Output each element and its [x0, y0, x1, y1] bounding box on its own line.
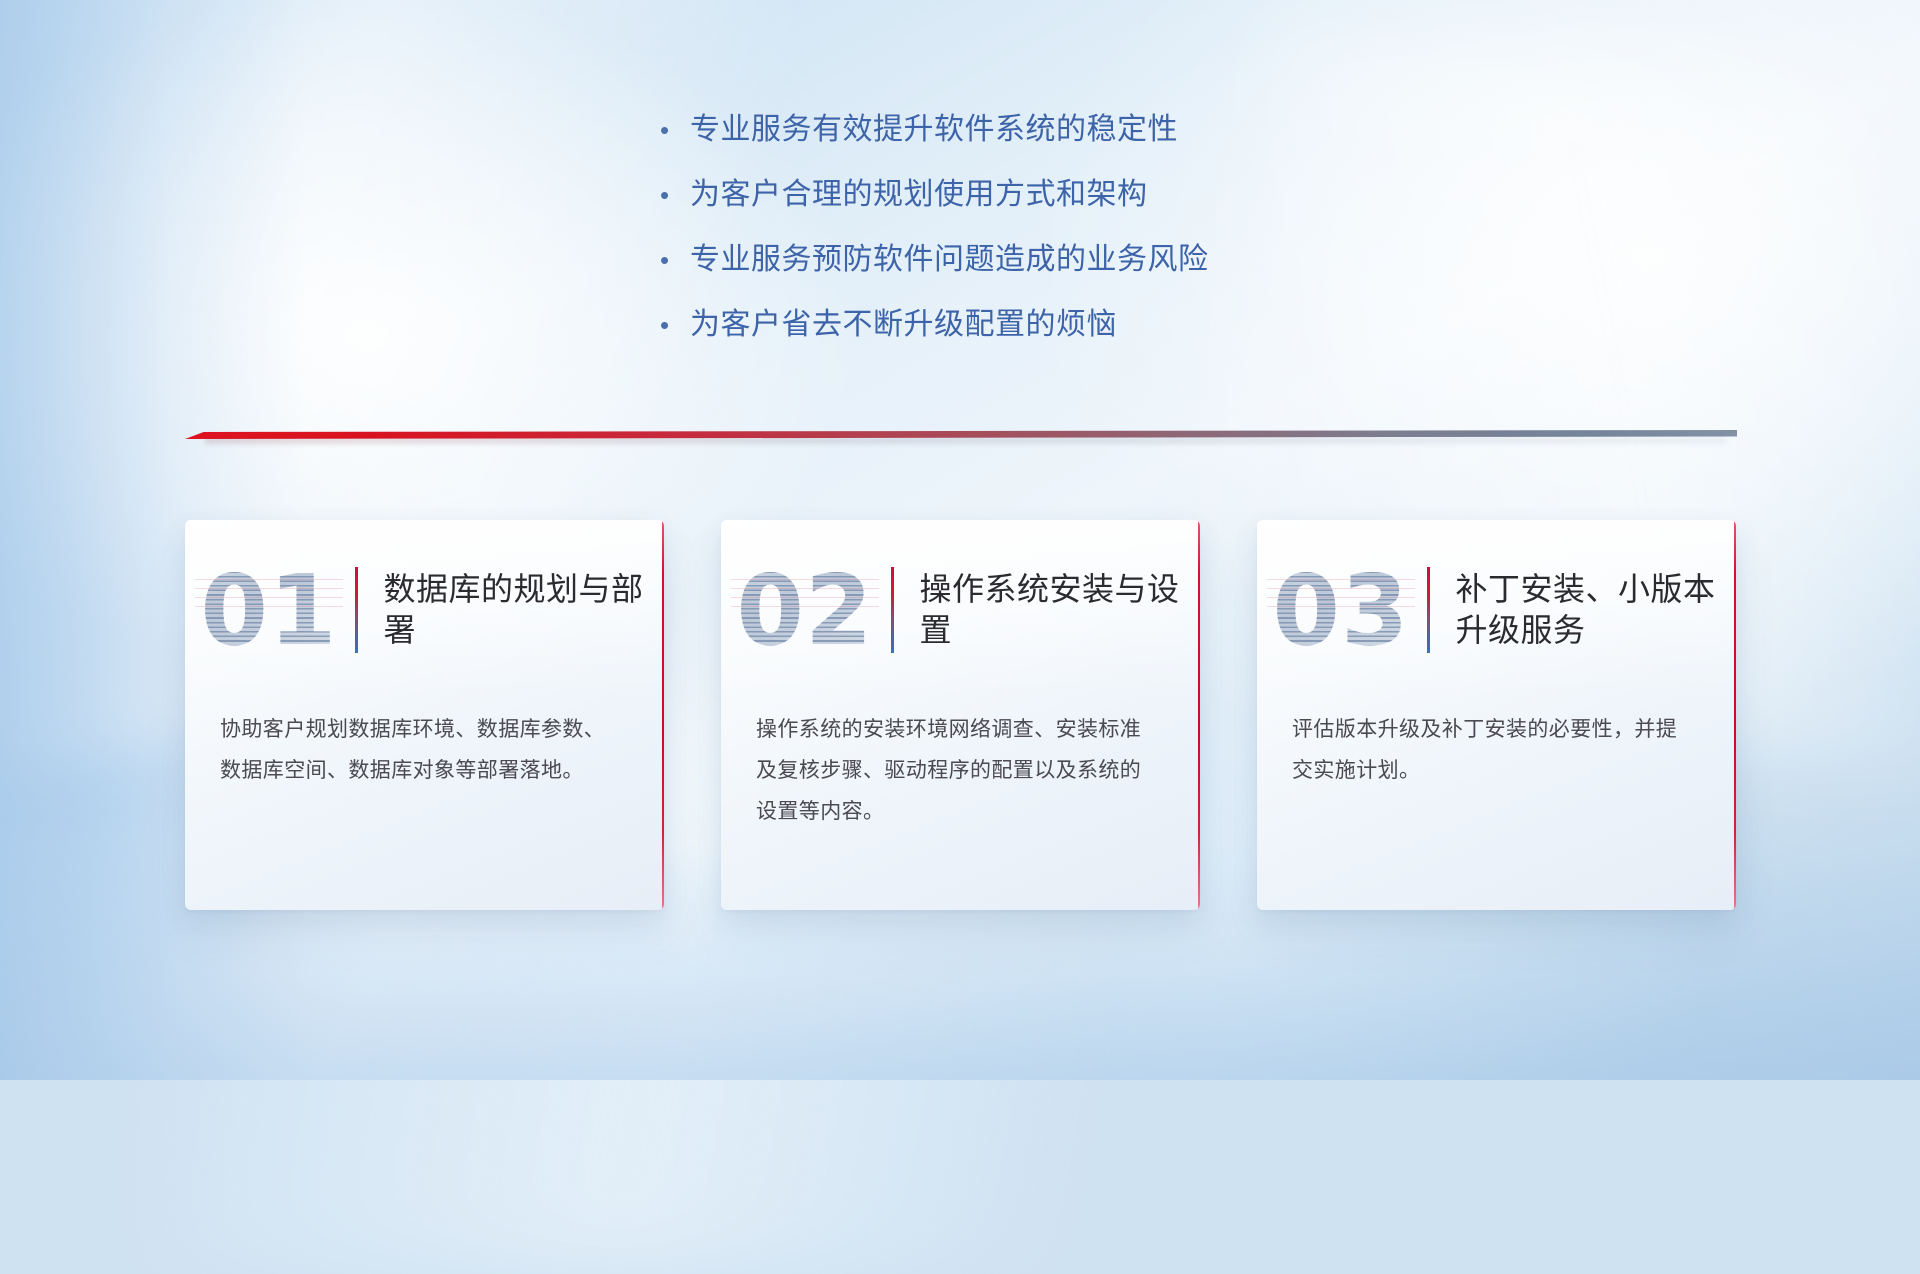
bullet-text: 为客户省去不断升级配置的烦恼 [690, 307, 1117, 343]
card-accent-bar [1198, 520, 1201, 910]
bullet-dot-icon: • [660, 247, 690, 273]
card-description: 协助客户规划数据库环境、数据库参数、数据库空间、数据库对象等部署落地。 [220, 710, 624, 792]
bullet-dot-icon: • [660, 312, 690, 338]
card-header: 02 操作系统安装与设置 [721, 546, 1186, 674]
service-card-03[interactable]: 03 补丁安装、小版本升级服务 评估版本升级及补丁安装的必要性，并提交实施计划。 [1257, 520, 1736, 910]
list-item: • 专业服务有效提升软件系统的稳定性 [660, 112, 1480, 148]
card-accent-bar [662, 520, 665, 910]
card-header: 03 补丁安装、小版本升级服务 [1257, 546, 1722, 674]
bullet-text: 为客户合理的规划使用方式和架构 [690, 177, 1148, 213]
card-description: 评估版本升级及补丁安装的必要性，并提交实施计划。 [1292, 710, 1696, 792]
card-number: 02 [721, 562, 889, 659]
card-title: 数据库的规划与部署 [384, 569, 651, 651]
service-card-02[interactable]: 02 操作系统安装与设置 操作系统的安装环境网络调查、安装标准及复核步骤、驱动程… [721, 520, 1200, 910]
card-title: 操作系统安装与设置 [920, 569, 1187, 651]
card-accent-bar [1734, 520, 1737, 910]
card-title: 补丁安装、小版本升级服务 [1456, 569, 1723, 651]
service-card-list: 01 数据库的规划与部署 协助客户规划数据库环境、数据库参数、数据库空间、数据库… [185, 520, 1737, 910]
service-card-01[interactable]: 01 数据库的规划与部署 协助客户规划数据库环境、数据库参数、数据库空间、数据库… [185, 520, 664, 910]
card-header: 01 数据库的规划与部署 [185, 546, 650, 674]
card-description: 操作系统的安装环境网络调查、安装标准及复核步骤、驱动程序的配置以及系统的设置等内… [756, 710, 1160, 833]
card-title-divider [1427, 567, 1430, 653]
card-number: 03 [1257, 562, 1425, 659]
bullet-dot-icon: • [660, 182, 690, 208]
card-title-divider [355, 567, 358, 653]
list-item: • 为客户合理的规划使用方式和架构 [660, 177, 1480, 213]
list-item: • 专业服务预防软件问题造成的业务风险 [660, 242, 1480, 278]
card-title-divider [891, 567, 894, 653]
list-item: • 为客户省去不断升级配置的烦恼 [660, 307, 1480, 343]
section-divider [185, 424, 1737, 446]
card-number: 01 [185, 562, 353, 659]
bullet-text: 专业服务有效提升软件系统的稳定性 [690, 112, 1178, 148]
bullet-dot-icon: • [660, 117, 690, 143]
bullet-text: 专业服务预防软件问题造成的业务风险 [690, 242, 1209, 278]
divider-shadow [205, 438, 1726, 443]
benefits-bullet-list: • 专业服务有效提升软件系统的稳定性 • 为客户合理的规划使用方式和架构 • 专… [660, 112, 1480, 372]
